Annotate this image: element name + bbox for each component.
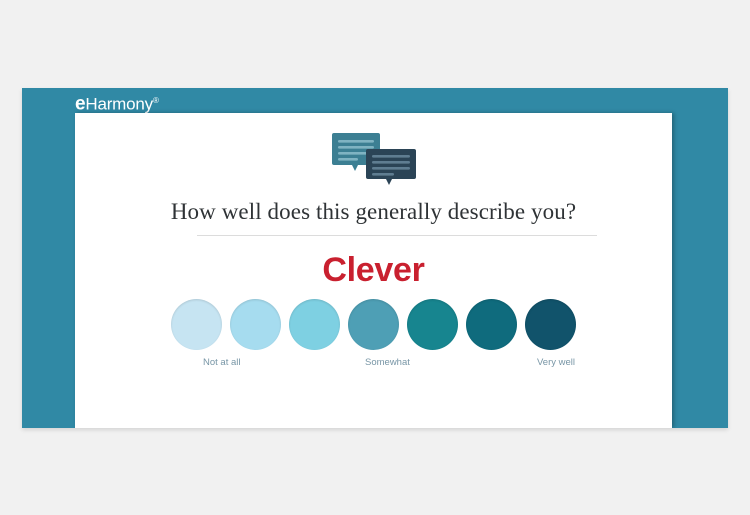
eharmony-logo[interactable]: eHarmony® [75,91,159,115]
logo-wordmark: Harmony [85,95,153,114]
scale-option-6[interactable] [466,299,517,350]
logo-e-mark: e [75,94,85,115]
scale-label-somewhat: Somewhat [365,357,410,368]
front-bubble [366,149,416,185]
trait-word: Clever [75,251,672,290]
scale-labels: Not at all Somewhat Very well [197,357,597,371]
scale-option-7[interactable] [525,299,576,350]
speech-bubbles-icon [75,131,672,187]
scale-option-2[interactable] [230,299,281,350]
scale-label-very-well: Very well [537,357,575,368]
scale-option-4[interactable] [348,299,399,350]
scale-option-3[interactable] [289,299,340,350]
scale-label-not-at-all: Not at all [203,357,241,368]
registered-trademark-icon: ® [153,96,159,105]
survey-card: How well does this generally describe yo… [75,113,672,428]
heading-divider [197,235,597,236]
scale-option-1[interactable] [171,299,222,350]
brand-bar: eHarmony® [22,88,728,113]
rating-scale [75,299,672,350]
speech-bubbles-svg [328,131,420,187]
scale-option-5[interactable] [407,299,458,350]
survey-screen-frame: eHarmony® [22,88,728,428]
question-heading: How well does this generally describe yo… [75,199,672,225]
